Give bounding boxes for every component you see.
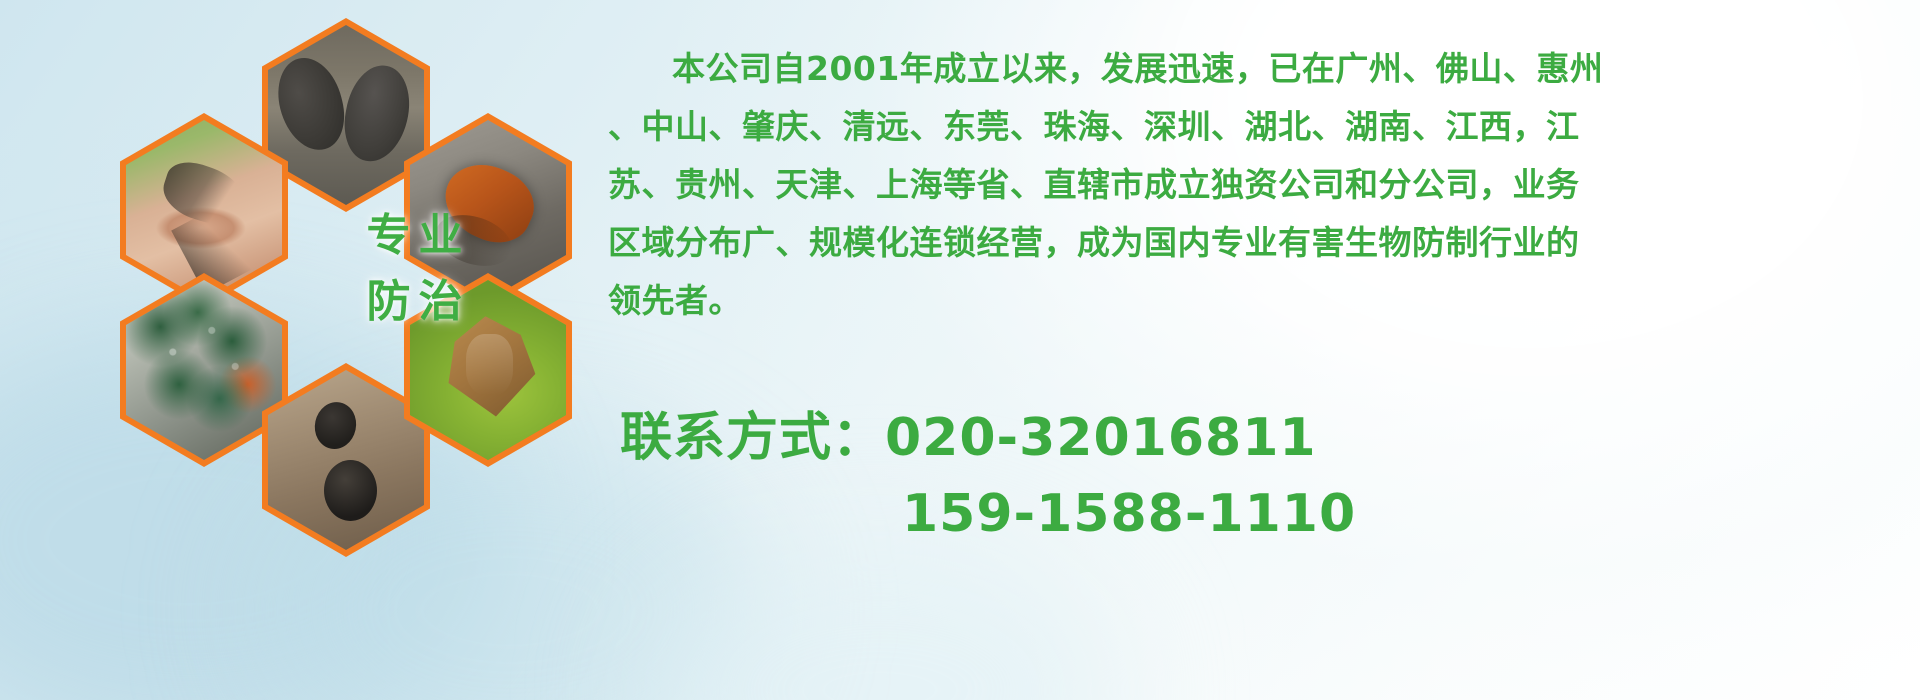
- contact-info: 联系方式：020-32016811 159-1588-1110: [620, 400, 1920, 552]
- hexagon-photo-cluster: 专业 防治: [96, 8, 596, 568]
- about-line: 区域分布广、规模化连锁经营，成为国内专业有害生物防制行业的: [608, 214, 1918, 272]
- rats-photo: [268, 25, 424, 205]
- about-line: 领先者。: [608, 272, 1918, 330]
- contact-phone-mobile: 159-1588-1110: [620, 476, 1920, 552]
- contact-phone-landline: 联系方式：020-32016811: [620, 400, 1920, 476]
- about-line: 、中山、肇庆、清远、东莞、珠海、深圳、湖北、湖南、江西，江: [608, 98, 1918, 156]
- flies-photo: [126, 280, 282, 460]
- slogan-line-2: 防治: [341, 269, 496, 335]
- about-paragraph: 本公司自2001年成立以来，发展迅速，已在广州、佛山、惠州 、中山、肇庆、清远、…: [608, 40, 1918, 330]
- about-line: 本公司自2001年成立以来，发展迅速，已在广州、佛山、惠州: [608, 40, 1918, 98]
- center-slogan: 专业 防治: [341, 203, 496, 335]
- background-blob: [640, 540, 1120, 700]
- ant-photo: [268, 370, 424, 550]
- promo-banner: 专业 防治 本公司自2001年成立以来，发展迅速，已在广州、佛山、惠州 、中山、…: [0, 0, 1920, 700]
- about-line: 苏、贵州、天津、上海等省、直辖市成立独资公司和分公司，业务: [608, 156, 1918, 214]
- slogan-line-1: 专业: [341, 203, 496, 269]
